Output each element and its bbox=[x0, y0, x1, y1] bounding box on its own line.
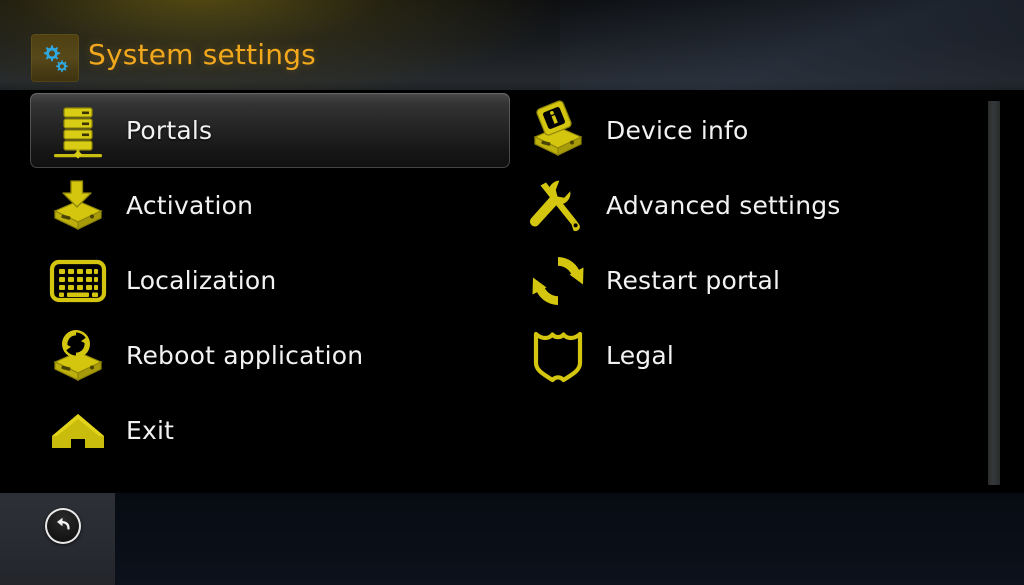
settings-menu: Portals Activation bbox=[0, 93, 1024, 493]
menu-item-label: Device info bbox=[606, 116, 749, 145]
header-sheen bbox=[560, 0, 1024, 92]
menu-item-restart-portal[interactable]: Restart portal bbox=[510, 243, 990, 318]
header-bar: System settings bbox=[0, 0, 1024, 92]
home-icon bbox=[30, 395, 126, 467]
menu-item-portals[interactable]: Portals bbox=[30, 93, 510, 168]
menu-item-activation[interactable]: Activation bbox=[30, 168, 510, 243]
box-download-icon bbox=[30, 170, 126, 242]
vertical-scrollbar[interactable] bbox=[988, 101, 1000, 485]
scrollbar-thumb[interactable] bbox=[988, 101, 1000, 485]
menu-item-legal[interactable]: Legal bbox=[510, 318, 990, 393]
menu-item-label: Activation bbox=[126, 191, 253, 220]
menu-item-label: Portals bbox=[126, 116, 212, 145]
device-refresh-icon bbox=[30, 320, 126, 392]
bottom-bar bbox=[0, 493, 1024, 585]
left-column: Portals Activation bbox=[30, 93, 510, 493]
shield-icon bbox=[510, 320, 606, 392]
menu-item-reboot-application[interactable]: Reboot application bbox=[30, 318, 510, 393]
right-column: Device info Advanced bbox=[510, 93, 990, 493]
system-settings-screen: System settings bbox=[0, 0, 1024, 585]
wrench-screwdriver-icon bbox=[510, 170, 606, 242]
menu-item-advanced-settings[interactable]: Advanced settings bbox=[510, 168, 990, 243]
back-arrow-icon bbox=[52, 513, 74, 539]
server-rack-icon bbox=[30, 95, 126, 167]
menu-item-label: Reboot application bbox=[126, 341, 363, 370]
keyboard-icon bbox=[30, 245, 126, 317]
menu-item-label: Exit bbox=[126, 416, 174, 445]
menu-item-localization[interactable]: Localization bbox=[30, 243, 510, 318]
menu-item-device-info[interactable]: Device info bbox=[510, 93, 990, 168]
refresh-arrows-icon bbox=[510, 245, 606, 317]
menu-item-label: Advanced settings bbox=[606, 191, 841, 220]
menu-item-label: Restart portal bbox=[606, 266, 780, 295]
menu-item-exit[interactable]: Exit bbox=[30, 393, 510, 468]
back-button[interactable] bbox=[45, 508, 81, 544]
menu-item-label: Localization bbox=[126, 266, 276, 295]
page-title: System settings bbox=[88, 38, 316, 71]
gears-icon bbox=[31, 34, 79, 82]
menu-item-label: Legal bbox=[606, 341, 674, 370]
device-info-icon bbox=[510, 95, 606, 167]
